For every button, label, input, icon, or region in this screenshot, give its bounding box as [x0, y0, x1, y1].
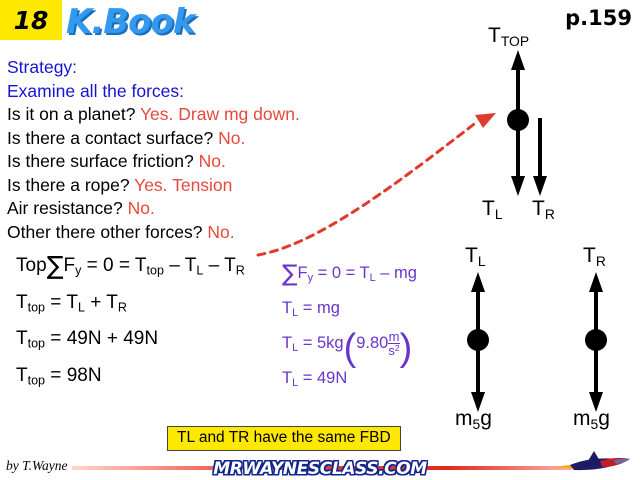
gravity-units: ms2 — [388, 330, 399, 358]
tension-subscript: R — [545, 206, 555, 222]
tension-subscript: L — [292, 377, 298, 389]
strategy-question: Is there surface friction? — [7, 151, 194, 171]
strategy-answer: Yes. Tension — [134, 175, 232, 195]
author-byline: by T.Wayne — [6, 458, 68, 474]
free-body-diagram-left-mass: TL m5g — [452, 244, 532, 434]
equations-top-node: Top∑Fy = 0 = Ttop – TL – TR Ttop = TL + … — [16, 250, 245, 396]
tension-subscript: L — [78, 300, 85, 314]
rocket-logo — [544, 447, 636, 477]
kbook-logo: K.Book — [66, 2, 195, 42]
unit-numerator: m — [388, 330, 399, 343]
tension-subscript: top — [28, 337, 45, 351]
tension-symbol: T — [532, 197, 545, 220]
sigma-icon: ∑ — [47, 251, 64, 280]
tension-subscript: L — [292, 307, 298, 319]
annotation-arrow — [253, 95, 513, 265]
node-dot-left — [467, 329, 489, 351]
tension-subscript: top — [28, 373, 45, 387]
tension-subscript: top — [28, 300, 45, 314]
tension-subscript: L — [370, 272, 376, 284]
strategy-question: Is it on a planet? — [7, 104, 135, 124]
mass-symbol: m — [573, 407, 591, 430]
strategy-question: Is there a contact surface? — [7, 128, 213, 148]
equation-prefix: Top — [16, 255, 47, 276]
slide-root: 18 K.Book p.159 Strategy: Examine all th… — [0, 0, 640, 480]
axis-subscript: y — [308, 272, 313, 284]
force-symbol: F — [64, 255, 76, 276]
equation-ttop-result: Ttop = 98N — [16, 360, 245, 397]
mass-value: 5kg — [317, 334, 344, 352]
equations-mass-node: ∑Fy = 0 = TL – mg TL = mg TL = 5kg(9.80m… — [282, 258, 417, 398]
free-body-diagram-right-mass: TR m5g — [570, 244, 640, 434]
fbd-left-arrows — [452, 244, 532, 434]
close-paren: ) — [400, 327, 413, 369]
tension-subscript: R — [236, 264, 245, 278]
equation-part: – T — [203, 255, 235, 276]
label-weight-left: m5g — [455, 407, 492, 432]
unit-denominator: s2 — [388, 343, 399, 357]
strategy-question: Other there other forces? — [7, 222, 203, 242]
strategy-answer: No. — [128, 198, 155, 218]
tension-right-value: 49N — [123, 328, 158, 349]
slide-number-badge: 18 — [0, 0, 62, 40]
equation-tl-equals-mg: TL = mg — [282, 293, 417, 328]
tension-left-result: 49N — [317, 369, 347, 387]
equation-tl-substituted: TL = 5kg(9.80ms2) — [282, 328, 417, 363]
node-dot-right — [585, 329, 607, 351]
strategy-answer: No. — [218, 128, 245, 148]
mass-symbol: m — [455, 407, 473, 430]
callout-same-fbd: TL and TR have the same FBD — [167, 426, 401, 451]
strategy-question: Is there a rope? — [7, 175, 130, 195]
label-weight-right: m5g — [573, 407, 610, 432]
website-banner: MRWAYNESCLASS.COM — [170, 458, 470, 479]
strategy-answer: No. — [199, 151, 226, 171]
strategy-answer: No. — [207, 222, 234, 242]
arrow-tension-up-head — [589, 272, 603, 292]
equation-sum-forces-top: Top∑Fy = 0 = Ttop – TL – TR — [16, 250, 245, 287]
equation-ttop-values: Ttop = 49N + 49N — [16, 323, 245, 360]
tension-subscript: top — [147, 264, 164, 278]
equation-part: = 0 = T — [81, 255, 146, 276]
tension-subscript: L — [292, 342, 298, 354]
label-t-r-top-fbd: TR — [532, 197, 555, 222]
equation-ttop-sum: Ttop = TL + TR — [16, 287, 245, 324]
annotation-arrow-path — [258, 121, 478, 255]
equation-part: – T — [164, 255, 196, 276]
arrow-t-l-head — [511, 176, 525, 196]
arrow-t-top-head — [511, 50, 525, 70]
gravity-symbol: g — [480, 407, 492, 430]
gravity-value: 9.80 — [356, 334, 388, 352]
tension-left-value: 49N — [67, 328, 102, 349]
gravity-symbol: g — [598, 407, 610, 430]
annotation-arrow-head — [475, 113, 496, 128]
tension-subscript: R — [118, 300, 127, 314]
arrow-tension-up-head — [471, 272, 485, 292]
arrow-t-r-head — [533, 176, 547, 196]
tension-top-value: 98N — [67, 365, 102, 386]
strategy-title: Strategy: — [7, 56, 357, 80]
strategy-question: Air resistance? — [7, 198, 123, 218]
slide-number-text: 18 — [0, 0, 62, 40]
rocket-fin — [588, 451, 600, 461]
